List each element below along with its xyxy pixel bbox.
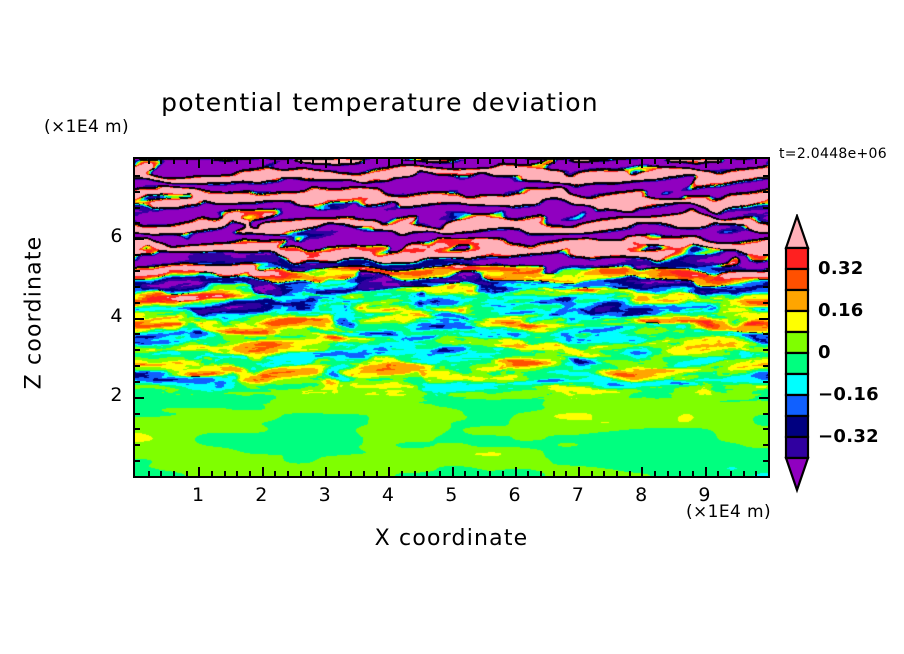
- y-axis-title: Z coordinate: [22, 213, 47, 413]
- colorbar-swatch: [786, 374, 808, 395]
- colorbar-swatch: [786, 290, 808, 311]
- colorbar-swatch: [786, 248, 808, 269]
- colorbar-tick-label: −0.32: [818, 426, 879, 447]
- colorbar-swatch: [786, 269, 808, 290]
- x-tick-label: 8: [621, 484, 661, 506]
- y-tick-label: 6: [83, 225, 123, 247]
- x-tick-label: 1: [178, 484, 218, 506]
- colorbar-swatch: [786, 332, 808, 353]
- y-tick-label: 4: [83, 305, 123, 327]
- x-tick-label: 4: [368, 484, 408, 506]
- colorbar-swatch: [786, 395, 808, 416]
- colorbar-tick-label: 0: [818, 342, 831, 363]
- colorbar-tick-label: 0.16: [818, 300, 864, 321]
- colorbar: 0.320.160−0.16−0.32: [778, 214, 904, 514]
- colorbar-tick-label: −0.16: [818, 384, 879, 405]
- y-tick-label: 2: [83, 384, 123, 406]
- colorbar-swatch: [786, 311, 808, 332]
- colorbar-under-cap: [786, 458, 808, 490]
- x-tick-label: 9: [685, 484, 725, 506]
- axis-tick-labels: 123456789246: [0, 0, 904, 654]
- x-tick-label: 6: [495, 484, 535, 506]
- x-tick-label: 7: [558, 484, 598, 506]
- x-tick-label: 3: [305, 484, 345, 506]
- colorbar-swatch: [786, 437, 808, 458]
- x-tick-label: 2: [242, 484, 282, 506]
- colorbar-swatch: [786, 353, 808, 374]
- x-tick-label: 5: [432, 484, 472, 506]
- colorbar-over-cap: [786, 216, 808, 248]
- colorbar-swatch: [786, 416, 808, 437]
- x-axis-title: X coordinate: [133, 526, 770, 551]
- colorbar-tick-label: 0.32: [818, 258, 864, 279]
